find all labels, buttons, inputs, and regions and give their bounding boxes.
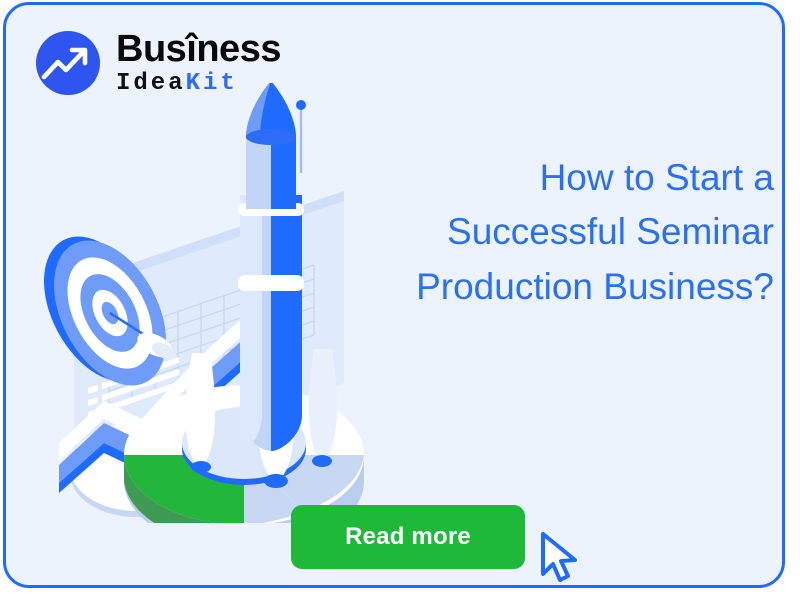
brand-logo-text: Busîness IdeaKit <box>116 30 281 97</box>
read-more-button[interactable]: Read more <box>291 505 525 569</box>
brand-tagline-idea: Idea <box>116 70 186 97</box>
headline-title: How to Start a Successful Seminar Produc… <box>354 151 774 314</box>
promo-banner-card: Busîness IdeaKit How to Start a Successf… <box>3 2 785 588</box>
brand-tagline: IdeaKit <box>116 71 281 96</box>
growth-chart-circle-icon <box>34 29 102 97</box>
brand-tagline-kit: Kit <box>186 70 238 97</box>
brand-logo[interactable]: Busîness IdeaKit <box>34 29 281 97</box>
brand-name: Busîness <box>116 30 281 69</box>
rocket-antenna <box>286 95 316 175</box>
mouse-pointer-icon <box>537 530 587 588</box>
